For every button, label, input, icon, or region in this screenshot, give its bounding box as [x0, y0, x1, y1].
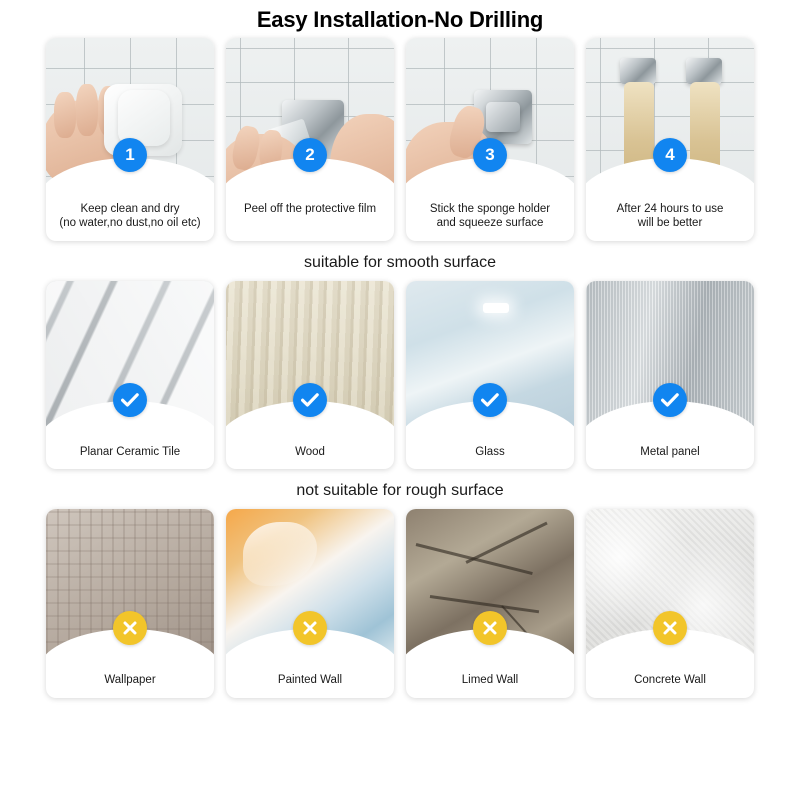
step-badge-4: 4: [653, 138, 687, 172]
step-card-1: 1 Keep clean and dry (no water,no dust,n…: [46, 38, 214, 241]
suitable-caption-4: Metal panel: [586, 441, 754, 469]
not-suitable-card-2: Painted Wall: [226, 509, 394, 697]
wallpaper-swatch: [46, 509, 214, 669]
hand-wiping-tile-photo: 1: [46, 38, 214, 198]
not-suitable-card-4: Concrete Wall: [586, 509, 754, 697]
step-caption-line1: Peel off the protective film: [244, 203, 376, 215]
step-caption-1: Keep clean and dry (no water,no dust,no …: [46, 198, 214, 241]
not-suitable-caption-3: Limed Wall: [406, 669, 574, 697]
suitable-card-3: Glass: [406, 281, 574, 469]
step-caption-line1: Stick the sponge holder: [430, 203, 550, 215]
step-caption-3: Stick the sponge holder and squeeze surf…: [406, 198, 574, 241]
limed-wall-swatch: [406, 509, 574, 669]
marble-tile-swatch: [46, 281, 214, 441]
not-suitable-caption-2: Painted Wall: [226, 669, 394, 697]
sticking-holder-photo: 3: [406, 38, 574, 198]
suitable-row: Planar Ceramic Tile Wood Glass: [0, 281, 800, 469]
not-suitable-caption-4: Concrete Wall: [586, 669, 754, 697]
cross-icon: [113, 611, 147, 645]
step-badge-3: 3: [473, 138, 507, 172]
suitable-caption-1: Planar Ceramic Tile: [46, 441, 214, 469]
suitable-card-2: Wood: [226, 281, 394, 469]
concrete-wall-swatch: [586, 509, 754, 669]
step-badge-1: 1: [113, 138, 147, 172]
step-card-2: 2 Peel off the protective film: [226, 38, 394, 241]
cross-icon: [293, 611, 327, 645]
steps-row: 1 Keep clean and dry (no water,no dust,n…: [0, 38, 800, 241]
check-icon: [113, 383, 147, 417]
painted-wall-swatch: [226, 509, 394, 669]
suitable-caption-3: Glass: [406, 441, 574, 469]
suitable-caption-2: Wood: [226, 441, 394, 469]
step-card-4: 4 After 24 hours to use will be better: [586, 38, 754, 241]
product-instruction-page: Easy Installation-No Drilling 1 Keep cle…: [0, 0, 800, 800]
metal-panel-swatch: [586, 281, 754, 441]
not-suitable-card-1: Wallpaper: [46, 509, 214, 697]
cross-icon: [473, 611, 507, 645]
suitable-card-1: Planar Ceramic Tile: [46, 281, 214, 469]
not-suitable-row: Wallpaper Painted Wall: [0, 509, 800, 697]
peeling-protective-film-photo: 2: [226, 38, 394, 198]
check-icon: [473, 383, 507, 417]
page-title: Easy Installation-No Drilling: [0, 0, 800, 38]
step-caption-line2: and squeeze surface: [410, 216, 570, 230]
cross-icon: [653, 611, 687, 645]
step-caption-line2: (no water,no dust,no oil etc): [50, 216, 210, 230]
step-caption-line1: After 24 hours to use: [617, 203, 724, 215]
suitable-section-label: suitable for smooth surface: [0, 241, 800, 281]
not-suitable-card-3: Limed Wall: [406, 509, 574, 697]
wood-swatch: [226, 281, 394, 441]
step-caption-2: Peel off the protective film: [226, 198, 394, 226]
check-icon: [293, 383, 327, 417]
suitable-card-4: Metal panel: [586, 281, 754, 469]
glass-swatch: [406, 281, 574, 441]
step-caption-line1: Keep clean and dry: [80, 203, 179, 215]
step-card-3: 3 Stick the sponge holder and squeeze su…: [406, 38, 574, 241]
not-suitable-caption-1: Wallpaper: [46, 669, 214, 697]
hooks-with-towels-photo: 4: [586, 38, 754, 198]
step-badge-2: 2: [293, 138, 327, 172]
check-icon: [653, 383, 687, 417]
not-suitable-section-label: not suitable for rough surface: [0, 469, 800, 509]
step-caption-4: After 24 hours to use will be better: [586, 198, 754, 241]
step-caption-line2: will be better: [590, 216, 750, 230]
